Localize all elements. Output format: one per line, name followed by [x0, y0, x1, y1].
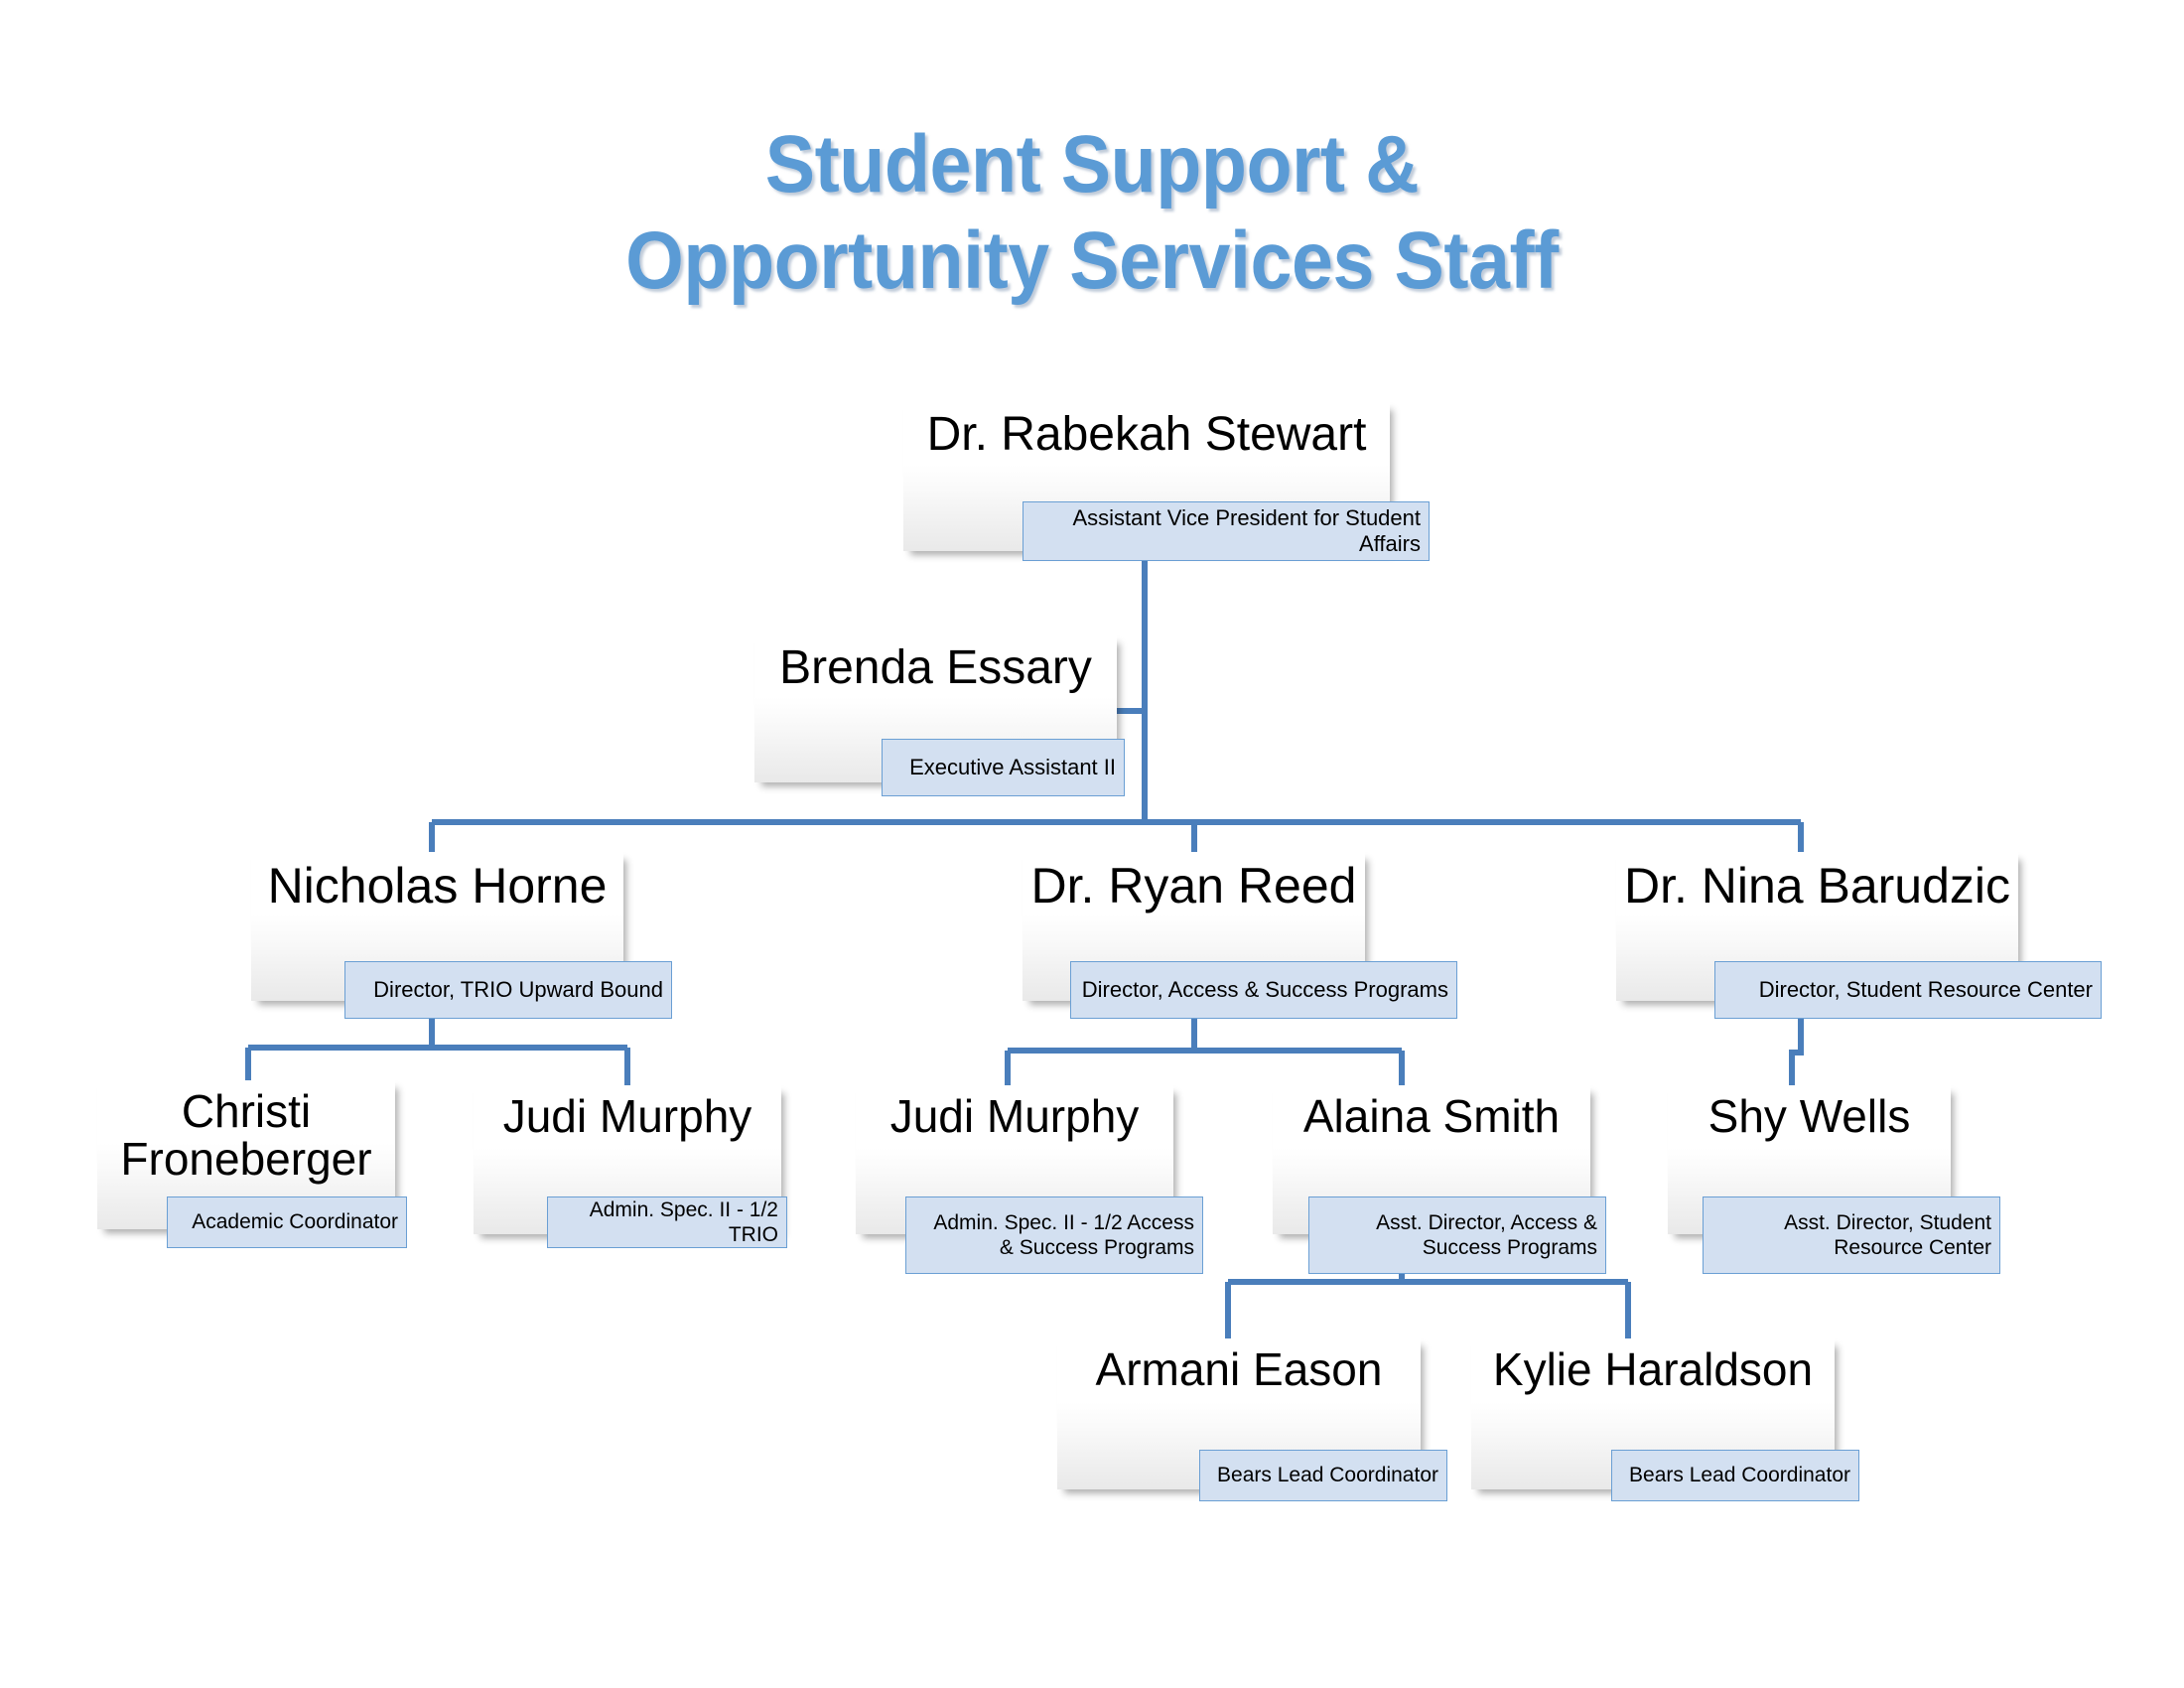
- node-title-alaina-smith: Asst. Director, Access & Success Program…: [1308, 1196, 1606, 1274]
- node-title-nina-barudzic: Director, Student Resource Center: [1714, 961, 2102, 1019]
- node-title-ryan-reed: Director, Access & Success Programs: [1070, 961, 1457, 1019]
- node-title-nicholas-horne: Director, TRIO Upward Bound: [344, 961, 672, 1019]
- page-title: Student Support & Opportunity Services S…: [87, 117, 2097, 310]
- node-title-kylie-haraldson: Bears Lead Coordinator: [1611, 1450, 1859, 1501]
- node-title-christi-froneberger: Academic Coordinator: [167, 1196, 407, 1248]
- org-chart-canvas: Student Support & Opportunity Services S…: [0, 0, 2184, 1688]
- node-title-judi-murphy-trio: Admin. Spec. II - 1/2 TRIO: [547, 1196, 787, 1248]
- node-title-shy-wells: Asst. Director, Student Resource Center: [1703, 1196, 2000, 1274]
- node-title-rabekah-stewart: Assistant Vice President for Student Aff…: [1023, 501, 1430, 561]
- node-title-brenda-essary: Executive Assistant II: [882, 739, 1125, 796]
- node-title-judi-murphy-access: Admin. Spec. II - 1/2 Access & Success P…: [905, 1196, 1203, 1274]
- node-title-armani-eason: Bears Lead Coordinator: [1199, 1450, 1447, 1501]
